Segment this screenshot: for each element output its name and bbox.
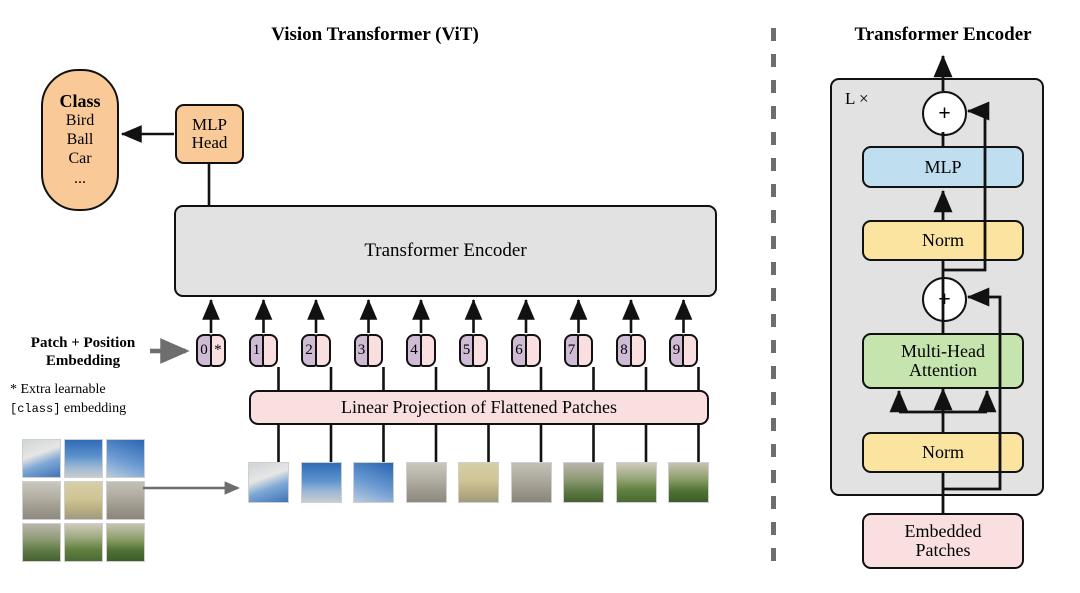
right-panel-connectors (0, 0, 1080, 593)
residual-skip-upper (943, 111, 985, 270)
residual-skip-lower (943, 297, 1000, 489)
